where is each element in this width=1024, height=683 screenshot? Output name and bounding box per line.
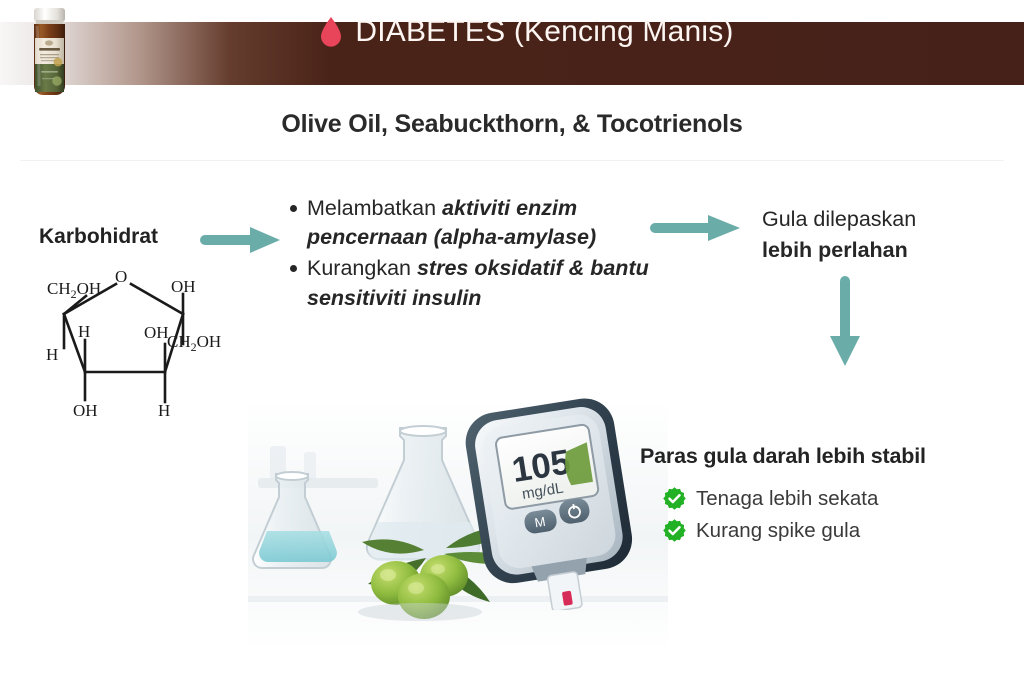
bullet-dot-icon: [290, 265, 297, 272]
green-check-badge-icon: [662, 486, 687, 511]
list-item: Tenaga lebih sekata: [662, 486, 878, 511]
mol-label-h-inner: H: [78, 322, 90, 341]
header-divider: [20, 160, 1004, 161]
list-item: Kurang spike gula: [662, 518, 878, 543]
sugar-molecule-diagram: O CH2OH OH H H OH CH2OH OH H: [28, 268, 240, 425]
karbohidrat-label: Karbohidrat: [39, 225, 158, 249]
product-bottle-image: [10, 2, 88, 110]
benefit-label-2: Kurang spike gula: [696, 519, 860, 543]
blood-glucose-meter: 105 mg/dL M: [462, 398, 648, 615]
bullet-text-1: Melambatkan aktiviti enzim pencernaan (a…: [307, 194, 670, 252]
mol-label-ch2oh-right: CH2OH: [167, 332, 221, 354]
blood-drop-icon: [320, 17, 342, 47]
subtitle: Olive Oil, Seabuckthorn, & Tocotrienols: [0, 110, 1024, 139]
mol-label-h-bottom: H: [158, 401, 170, 420]
green-check-badge-icon: [662, 518, 687, 543]
result-benefit-list: Tenaga lebih sekata Kurang spike gula: [662, 486, 878, 543]
list-item: Melambatkan aktiviti enzim pencernaan (a…: [290, 194, 670, 252]
arrow-right-icon-1: [200, 224, 282, 261]
outcome-line-2: lebih perlahan: [762, 235, 1012, 266]
result-title: Paras gula darah lebih stabil: [640, 444, 926, 469]
meter-button-m: M: [534, 514, 547, 531]
mechanism-bullet-list: Melambatkan aktiviti enzim pencernaan (a…: [290, 194, 670, 315]
outcome-line-1: Gula dilepaskan: [762, 207, 916, 231]
page-title: DIABETES (Kencing Manis): [355, 15, 733, 49]
list-item: Kurangkan stres oksidatif & bantu sensit…: [290, 254, 670, 312]
outcome-text: Gula dilepaskan lebih perlahan: [762, 204, 1012, 265]
mol-label-o: O: [115, 268, 127, 286]
mol-label-oh-topright: OH: [171, 277, 196, 296]
mol-label-oh-inner: OH: [144, 323, 169, 342]
mol-label-oh-bottom: OH: [73, 401, 98, 420]
benefit-label-1: Tenaga lebih sekata: [696, 487, 878, 511]
arrow-down-icon: [828, 276, 862, 373]
arrow-right-icon-2: [650, 212, 742, 249]
bullet-dot-icon: [290, 205, 297, 212]
mol-label-ch2oh-topleft: CH2OH: [47, 279, 101, 301]
bullet-text-2: Kurangkan stres oksidatif & bantu sensit…: [307, 254, 670, 312]
header: DIABETES (Kencing Manis): [0, 0, 1024, 63]
mol-label-h-left: H: [46, 345, 58, 364]
